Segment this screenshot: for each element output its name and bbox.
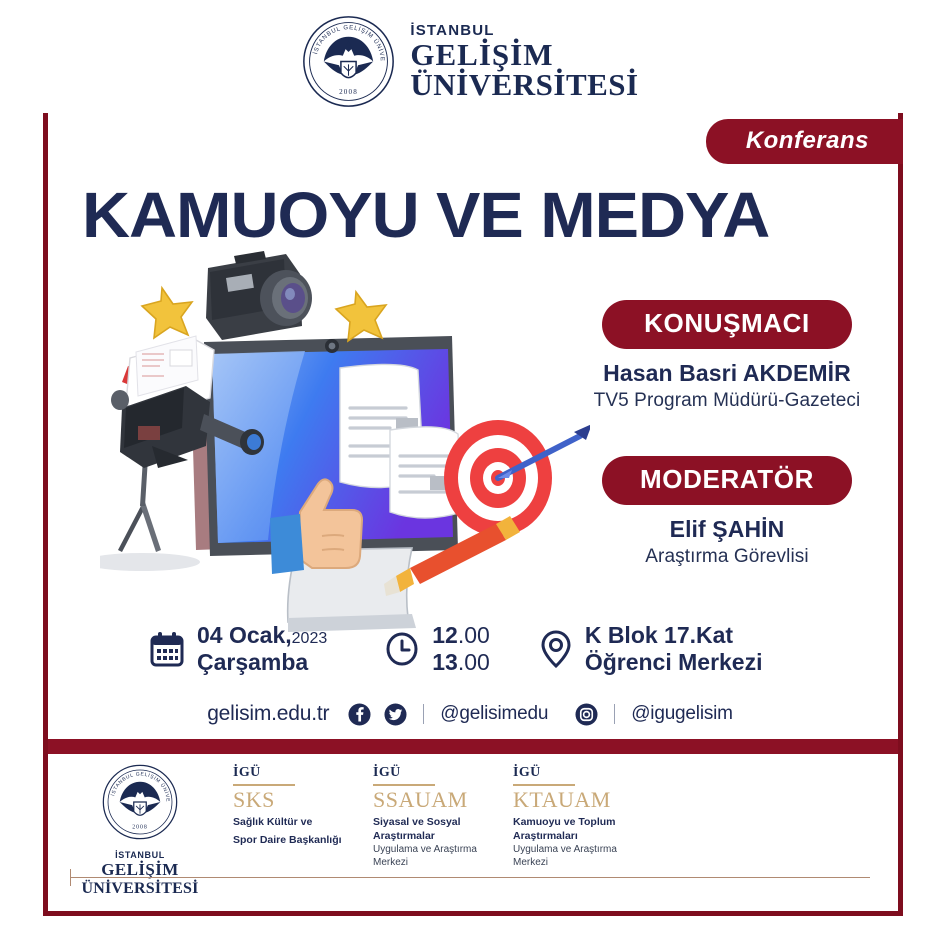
university-seal-icon: 2008 İSTANBUL GELİŞİM ÜNİVERSİTESİ: [301, 14, 396, 109]
star-icon: [142, 288, 192, 338]
website-link[interactable]: gelisim.edu.tr: [207, 702, 329, 726]
twitter-icon[interactable]: [384, 703, 407, 726]
time-start-decimals: .00: [458, 622, 490, 648]
logo-line-istanbul: İSTANBUL: [410, 23, 638, 38]
event-date: 04 Ocak,2023 Çarşamba: [150, 622, 327, 675]
moderator-role: Araştırma Görevlisi: [562, 546, 892, 568]
unit-rule: [373, 784, 435, 786]
unit-rule: [513, 784, 575, 786]
location-line-1: K Blok 17.Kat: [585, 622, 763, 649]
social-handle-1[interactable]: @gelisimedu: [440, 703, 548, 725]
svg-text:2008: 2008: [132, 825, 147, 831]
logo-line-gelisim: GELİŞİM: [410, 39, 638, 70]
header-university-logo: 2008 İSTANBUL GELİŞİM ÜNİVERSİTESİ İSTAN…: [0, 8, 940, 113]
clock-icon: [385, 631, 419, 667]
time-end: 13: [432, 649, 458, 675]
unit-name-line-2: Spor Daire Başkanlığı: [233, 834, 355, 848]
calendar-icon: [150, 631, 184, 667]
star-icon: [336, 292, 386, 341]
footer-unit-sks: İGÜ SKS Sağlık Kültür ve Spor Daire Başk…: [233, 765, 373, 869]
unit-name-line-1: Kamuoyu ve Toplum Araştırmaları: [513, 816, 635, 843]
unit-acronym: SKS: [233, 788, 355, 812]
unit-name-line-1: Siyasal ve Sosyal Araştırmalar: [373, 816, 495, 843]
social-divider: [614, 704, 615, 724]
social-handle-2[interactable]: @igugelisim: [631, 703, 733, 725]
speaker-name: Hasan Basri AKDEMİR: [562, 360, 892, 387]
unit-prefix: İGÜ: [233, 765, 355, 781]
unit-name-line-2: Uygulama ve Araştırma Merkezi: [513, 843, 635, 869]
speaker-role: TV5 Program Müdürü-Gazeteci: [562, 390, 892, 412]
unit-acronym: SSAUAM: [373, 788, 495, 812]
event-type-badge: Konferans: [706, 119, 903, 164]
time-start: 12: [432, 622, 458, 648]
logo-line-universitesi: ÜNİVERSİTESİ: [410, 69, 638, 100]
event-time: 12.00 13.00: [385, 622, 490, 675]
date-year: 2023: [292, 630, 328, 647]
unit-acronym: KTAUAM: [513, 788, 635, 812]
moderator-pill-label: MODERATÖR: [602, 456, 852, 505]
unit-prefix: İGÜ: [373, 765, 495, 781]
speaker-block: KONUŞMACI Hasan Basri AKDEMİR TV5 Progra…: [562, 300, 892, 412]
unit-rule: [233, 784, 295, 786]
event-location: K Blok 17.Kat Öğrenci Merkezi: [540, 622, 763, 675]
social-links-row: gelisim.edu.tr @gelisimedu @igugelisim: [0, 702, 940, 726]
moderator-block: MODERATÖR Elif ŞAHİN Araştırma Görevlisi: [562, 456, 892, 568]
footer-logo-line-universitesi: ÜNİVERSİTESİ: [70, 880, 210, 898]
svg-text:2008: 2008: [339, 88, 358, 96]
date-day-month: 04 Ocak,: [197, 622, 292, 648]
university-seal-icon: 2008 İSTANBUL GELİŞİM ÜNİVERSİTESİ: [101, 763, 179, 841]
location-line-2: Öğrenci Merkezi: [585, 649, 763, 676]
map-pin-icon: [540, 629, 572, 669]
footer-unit-ktauam: İGÜ KTAUAM Kamuoyu ve Toplum Araştırmala…: [513, 765, 653, 869]
facebook-icon[interactable]: [348, 703, 371, 726]
camera-icon: [206, 251, 312, 340]
unit-name-line-1: Sağlık Kültür ve: [233, 816, 355, 830]
time-end-decimals: .00: [458, 649, 490, 675]
instagram-icon[interactable]: [575, 703, 598, 726]
footer-rule: [70, 877, 870, 878]
footer: 2008 İSTANBUL GELİŞİM ÜNİVERSİTESİ İSTAN…: [48, 757, 898, 912]
moderator-name: Elif ŞAHİN: [562, 516, 892, 543]
participants-section: KONUŞMACI Hasan Basri AKDEMİR TV5 Progra…: [562, 300, 892, 568]
footer-logo-line-istanbul: İSTANBUL: [70, 850, 210, 860]
unit-prefix: İGÜ: [513, 765, 635, 781]
social-divider: [423, 704, 424, 724]
date-weekday: Çarşamba: [197, 649, 327, 676]
footer-divider-bar: [48, 739, 898, 754]
footer-units: İGÜ SKS Sağlık Kültür ve Spor Daire Başk…: [233, 765, 653, 869]
speaker-pill-label: KONUŞMACI: [602, 300, 852, 349]
event-details-row: 04 Ocak,2023 Çarşamba 12.00 13.00 K Blok…: [150, 622, 850, 675]
page-title: KAMUOYU VE MEDYA: [82, 178, 769, 252]
footer-unit-ssauam: İGÜ SSAUAM Siyasal ve Sosyal Araştırmala…: [373, 765, 513, 869]
media-illustration: [100, 250, 590, 640]
unit-name-line-2: Uygulama ve Araştırma Merkezi: [373, 843, 495, 869]
